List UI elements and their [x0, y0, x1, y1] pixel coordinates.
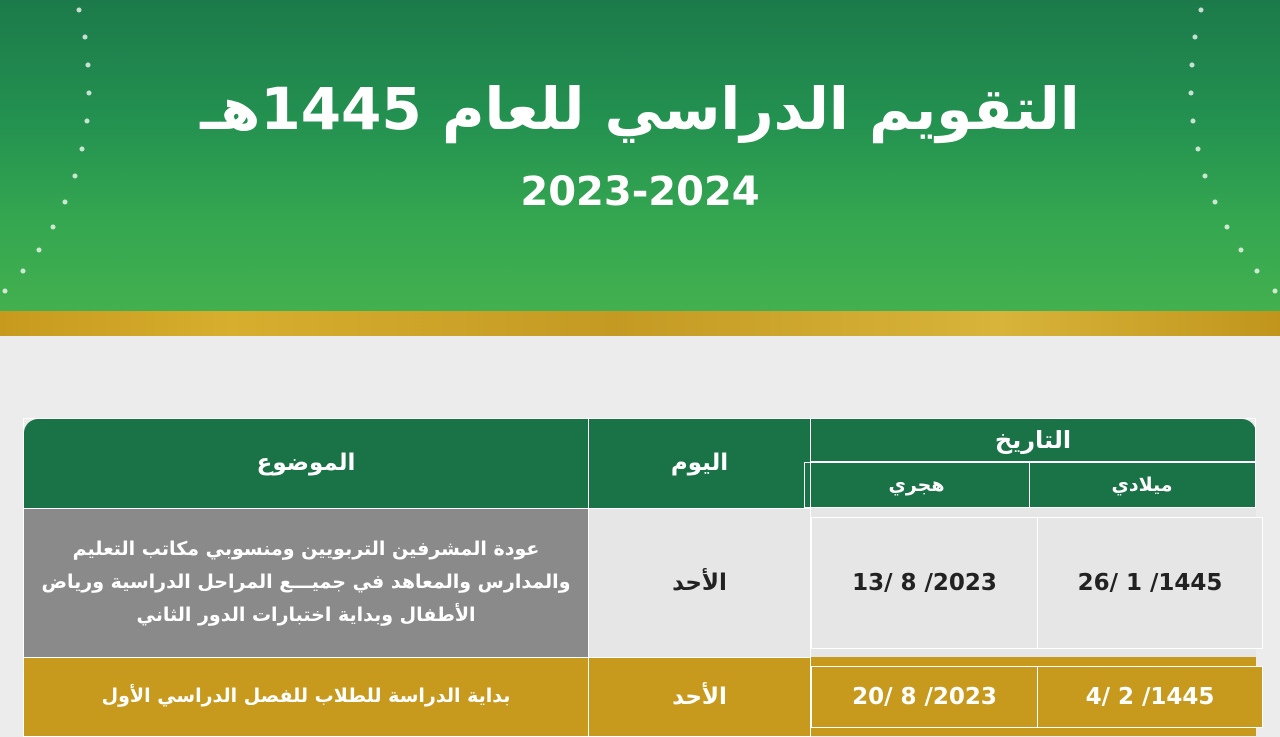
table-header-row-top: التاريخ اليوم الموضوع — [24, 419, 1256, 462]
header-topic: الموضوع — [24, 419, 589, 509]
cell-hijri: 26/ 1 /1445 — [1038, 517, 1263, 648]
header-day: اليوم — [589, 419, 811, 509]
gold-divider — [0, 311, 1280, 336]
cell-hijri: 4/ 2 /1445 — [1038, 666, 1263, 727]
cell-gregorian: 13/ 8 /2023 — [812, 517, 1038, 648]
page-header: التقويم الدراسي للعام 1445هـ 2023-2024 — [0, 0, 1280, 311]
cell-day: الأحد — [589, 508, 811, 657]
cell-topic: عودة المشرفين التربويين ومنسوبي مكاتب ال… — [24, 508, 589, 657]
calendar-page: التقويم الدراسي للعام 1445هـ 2023-2024 ا… — [0, 0, 1280, 720]
cell-topic: بداية الدراسة للطلاب للفصل الدراسي الأول — [24, 657, 589, 736]
page-subtitle: 2023-2024 — [520, 169, 759, 215]
header-date: التاريخ — [811, 419, 1256, 462]
header-hijri: هجري — [804, 463, 1029, 508]
page-title: التقويم الدراسي للعام 1445هـ — [200, 76, 1079, 143]
cell-day: الأحد — [589, 657, 811, 736]
calendar-table: التاريخ اليوم الموضوع ميلادي هجري — [23, 418, 1256, 737]
table-row: 13/ 8 /2023 26/ 1 /1445 الأحد عودة المشر… — [24, 508, 1256, 657]
table-row: 20/ 8 /2023 4/ 2 /1445 الأحد بداية الدرا… — [24, 657, 1256, 736]
calendar-table-container: التاريخ اليوم الموضوع ميلادي هجري — [24, 418, 1256, 737]
cell-gregorian: 20/ 8 /2023 — [812, 666, 1038, 727]
header-gregorian: ميلادي — [1029, 463, 1255, 508]
